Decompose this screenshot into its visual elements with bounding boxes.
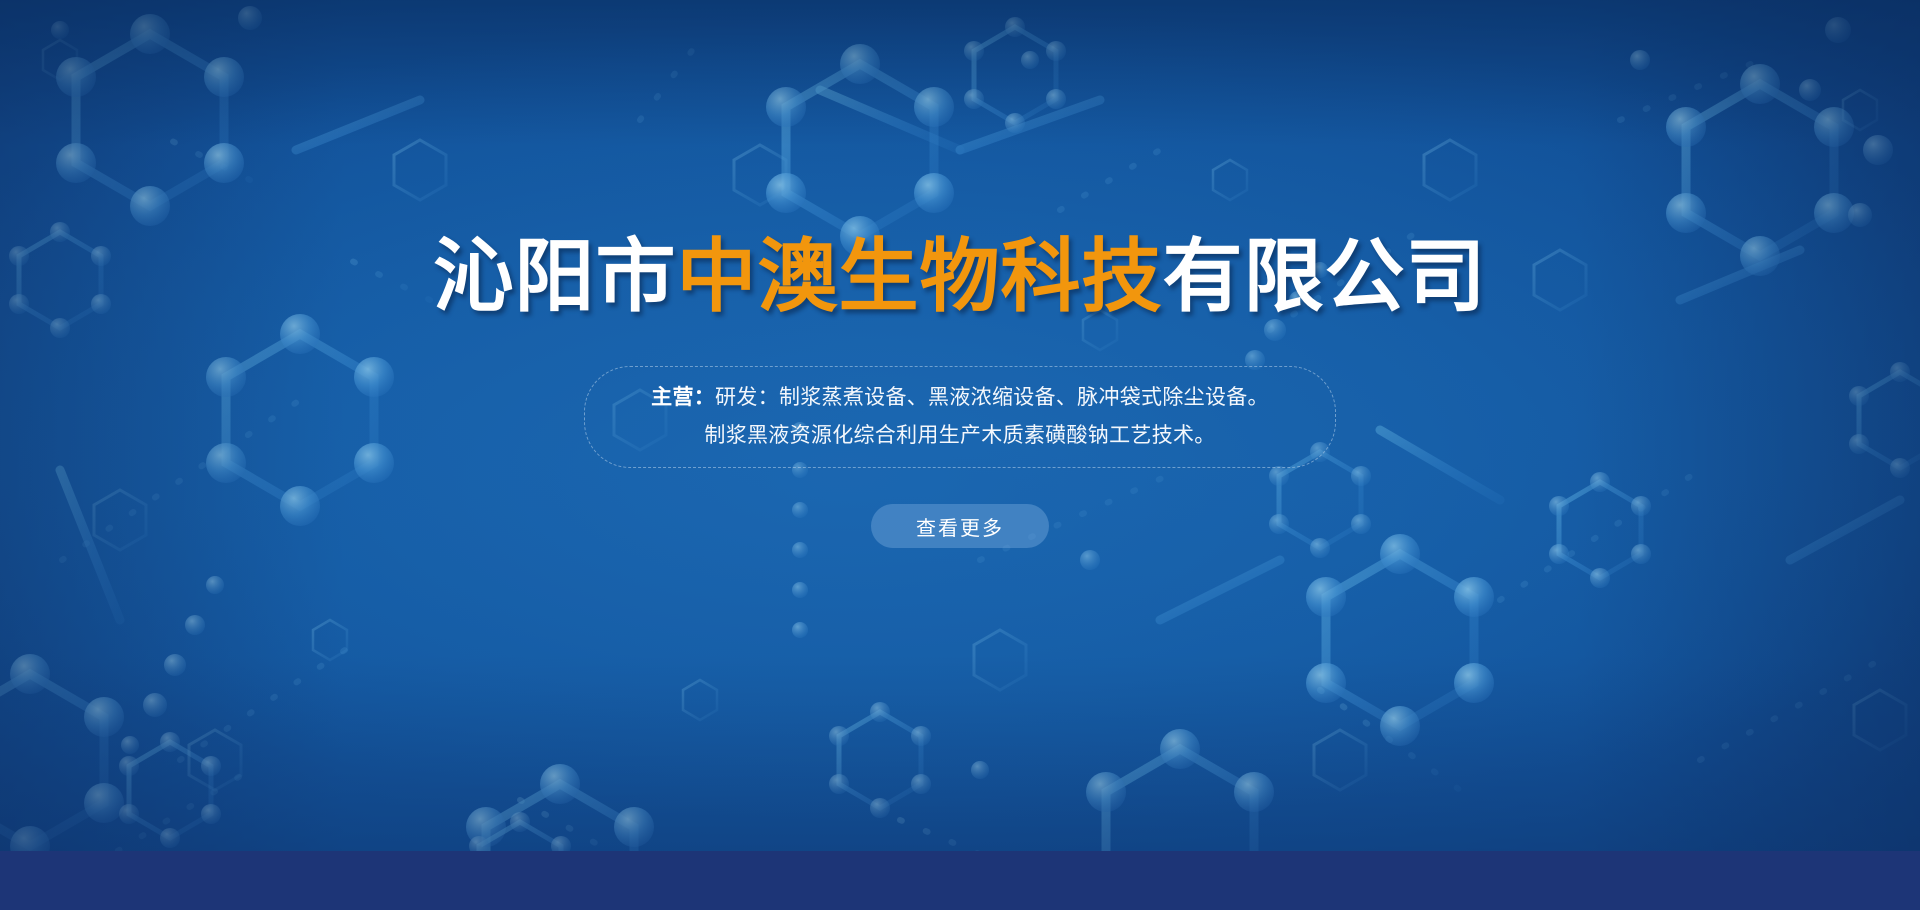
hero-banner: 沁阳市中澳生物科技有限公司 主营：研发：制浆蒸煮设备、黑液浓缩设备、脉冲袋式除尘… [0, 0, 1920, 910]
subtitle-line-1: 主营：研发：制浆蒸煮设备、黑液浓缩设备、脉冲袋式除尘设备。 [651, 379, 1269, 417]
title-highlight: 中澳生物科技 [677, 232, 1163, 321]
subtitle-panel: 主营：研发：制浆蒸煮设备、黑液浓缩设备、脉冲袋式除尘设备。 制浆黑液资源化综合利… [584, 366, 1336, 468]
hero-content: 沁阳市中澳生物科技有限公司 主营：研发：制浆蒸煮设备、黑液浓缩设备、脉冲袋式除尘… [0, 0, 1920, 851]
title-suffix: 有限公司 [1163, 232, 1487, 321]
page-title: 沁阳市中澳生物科技有限公司 [434, 237, 1487, 317]
subtitle-line-2: 制浆黑液资源化综合利用生产木质素磺酸钠工艺技术。 [704, 417, 1215, 455]
title-prefix: 沁阳市 [434, 232, 677, 321]
bottom-strip [0, 851, 1920, 910]
view-more-button[interactable]: 查看更多 [871, 504, 1049, 548]
subtitle-line-1-text: 研发：制浆蒸煮设备、黑液浓缩设备、脉冲袋式除尘设备。 [715, 386, 1269, 409]
subtitle-lead-label: 主营： [651, 386, 715, 409]
